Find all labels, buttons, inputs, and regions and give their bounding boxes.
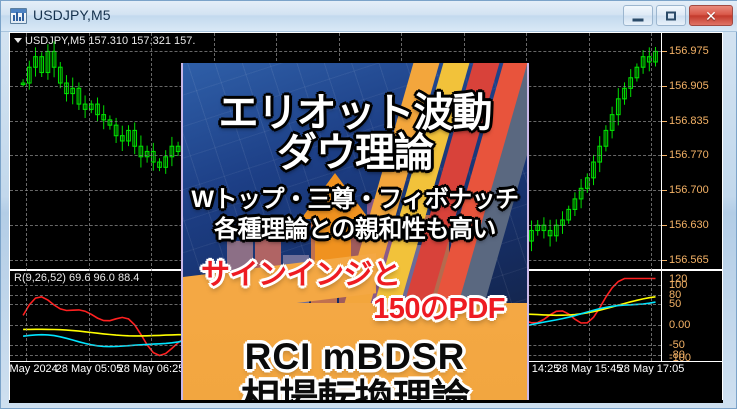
chart-document-icon [10,8,27,24]
minimize-icon [633,18,644,21]
promo-line-6: 150のPDF [183,295,527,324]
promo-line-5: サインインジと [183,261,527,290]
maximize-icon [666,11,676,20]
gridline-vertical [651,33,652,361]
promo-line-1: エリオット波動 [183,93,527,133]
chevron-down-icon[interactable] [14,38,22,43]
price-tick [662,86,667,87]
price-axis-divider [661,33,662,361]
close-button[interactable]: ✕ [689,5,733,26]
gridline-vertical [26,33,27,361]
window-controls: ✕ [623,5,733,27]
window-titlebar: USDJPY,M5 ✕ [1,1,737,32]
promo-line-3: Wトップ・三尊・フィボナッチ [183,188,527,212]
price-tick [662,155,667,156]
chart-bottom-edge [9,400,723,403]
time-axis-label: 28 May 15:45 [556,363,623,375]
price-tick [662,190,667,191]
promo-line-7: RCI mBDSR [183,338,527,375]
close-icon: ✕ [705,9,717,23]
chart-header-text: USDJPY,M5 157.310 157.321 157. [25,35,195,47]
promo-line-2: ダウ理論 [183,133,527,173]
minimize-button[interactable] [623,5,653,26]
window-title: USDJPY,M5 [33,7,111,23]
price-tick [662,51,667,52]
time-axis-label: 28 May 06:25 [118,363,185,375]
chart-canvas[interactable]: USDJPY,M5 157.310 157.321 157. R(9,26,52… [9,32,723,402]
gridline-vertical [89,33,90,361]
indicator-axis-label: 0.00 [669,319,690,331]
promo-line-8: 相場転換理論 [183,380,527,402]
promo-text-group: エリオット波動 ダウ理論 Wトップ・三尊・フィボナッチ 各種理論との親和性も高い… [183,63,527,402]
price-axis-label: 156.905 [669,80,720,92]
maximize-button[interactable] [656,5,686,26]
chart-header: USDJPY,M5 157.310 157.321 157. [14,35,195,47]
price-tick [662,260,667,261]
price-tick [662,225,667,226]
indicator-header: R(9,26,52) 69.6 96.0 88.4 [14,272,139,284]
gridline-vertical [589,33,590,361]
price-tick [662,121,667,122]
time-axis-label: 28 May 05:05 [56,363,123,375]
price-axis-label: 156.835 [669,115,720,127]
promo-overlay: エリオット波動 ダウ理論 Wトップ・三尊・フィボナッチ 各種理論との親和性も高い… [181,63,529,402]
price-axis-label: 156.630 [669,219,720,231]
time-axis-label: 28 May 17:05 [618,363,685,375]
mt4-chart-window: USDJPY,M5 ✕ [0,0,737,409]
gridline-vertical [151,33,152,361]
price-axis-label: 156.700 [669,184,720,196]
promo-line-4: 各種理論との親和性も高い [183,218,527,242]
gridline-horizontal [10,51,661,52]
time-axis-label: 28 May 2024 [9,363,58,375]
indicator-axis-label: 50 [669,298,681,310]
price-axis-label: 156.770 [669,149,720,161]
price-axis-label: 156.975 [669,45,720,57]
price-axis-label: 156.565 [669,254,720,266]
